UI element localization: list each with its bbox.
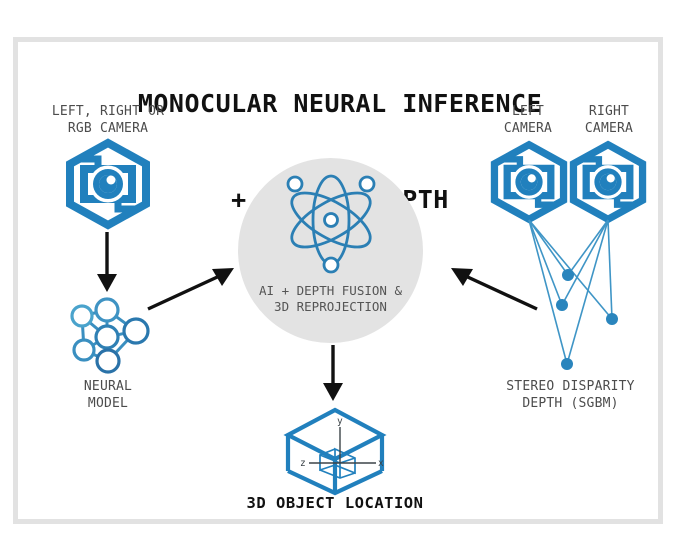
fusion-label: AI + DEPTH FUSION & 3D REPROJECTION <box>238 283 423 315</box>
axis-label-y: y <box>337 416 343 427</box>
arrow-camera-to-neural-model <box>92 232 122 294</box>
neural-model-label: NEURAL MODEL <box>48 378 168 412</box>
axis-label-z: z <box>300 458 306 469</box>
mono-camera-label: LEFT, RIGHT OR RGB CAMERA <box>28 103 188 137</box>
diagram-canvas: MONOCULAR NEURAL INFERENCE + STEREO DEPT… <box>0 0 680 549</box>
arrow-stereo-to-fusion <box>447 264 539 314</box>
hexagon-camera-aperture-icon <box>64 141 152 227</box>
left-hexagon-camera-aperture-icon <box>489 141 569 223</box>
atom-icon <box>285 168 377 273</box>
right-camera-label: RIGHT CAMERA <box>570 103 648 137</box>
cube-3d-axes-icon: y x z <box>283 405 388 495</box>
stereo-disparity-label: STEREO DISPARITY DEPTH (SGBM) <box>483 378 658 412</box>
left-camera-label: LEFT CAMERA <box>489 103 567 137</box>
arrow-neural-model-to-fusion <box>146 264 238 314</box>
neural-network-icon <box>62 300 154 372</box>
object-location-label: 3D OBJECT LOCATION <box>210 495 460 512</box>
right-hexagon-camera-aperture-icon <box>568 141 648 223</box>
arrow-fusion-to-object-location <box>318 345 348 403</box>
axis-label-x: x <box>378 458 384 469</box>
